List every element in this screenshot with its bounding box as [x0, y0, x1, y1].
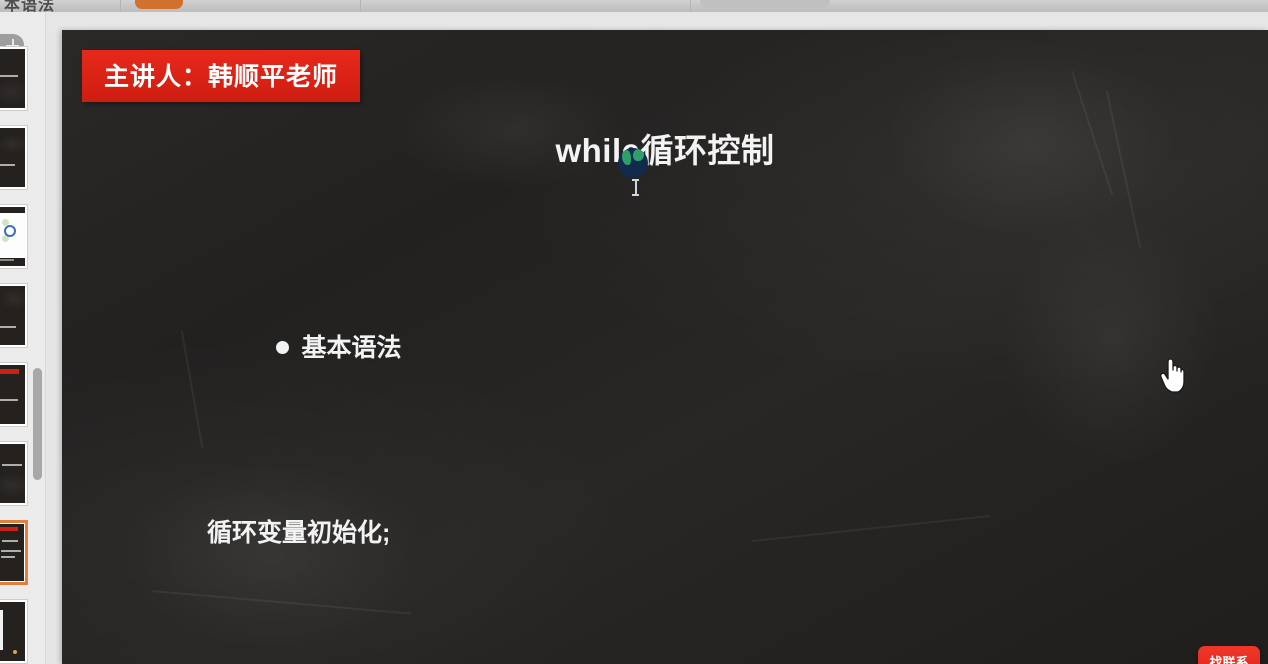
sidebar-scrollbar-track[interactable] — [31, 12, 45, 664]
thumbnail-text-line — [0, 75, 18, 77]
globe-landmass — [622, 150, 631, 165]
thumbnail-text-line — [2, 464, 22, 466]
bullet-icon — [276, 341, 289, 354]
thumbnail-preview — [0, 207, 25, 266]
board-smudge — [0, 134, 25, 154]
body-line-2: 循环变量初始化; — [207, 515, 601, 552]
slide-title: while循环控制 — [62, 124, 1268, 172]
thumbnail-preview — [0, 524, 24, 581]
slide-body: 基本语法 循环变量初始化; while (循环条件) { 循环体(语句); 循环… — [207, 182, 601, 664]
list-item[interactable] — [0, 46, 28, 111]
thumbnail-preview — [0, 128, 25, 187]
presentation-app: 本语法 — [0, 0, 1268, 664]
list-item-selected[interactable] — [0, 520, 28, 585]
thumbnail-banner — [0, 527, 18, 531]
list-item[interactable] — [0, 599, 28, 664]
toolbar-divider — [690, 0, 691, 12]
text-cursor-icon — [632, 178, 639, 198]
toolbar-divider — [120, 0, 121, 12]
board-smudge — [0, 472, 25, 498]
thumbnail-preview — [0, 286, 25, 345]
slide-thumbnail-sidebar — [0, 12, 46, 664]
thumbnail-list — [0, 46, 34, 664]
thumbnail-preview — [0, 602, 25, 661]
thumbnail-text-line — [2, 540, 18, 542]
thumbnail-text-line — [0, 164, 15, 166]
list-item[interactable] — [0, 362, 28, 427]
toolbar-divider — [360, 0, 361, 12]
slide-surface[interactable]: 主讲人：韩顺平老师 while循环控制 基本语法 循环变量初始化; while … — [62, 30, 1268, 664]
list-item[interactable] — [0, 204, 28, 269]
thumbnail-shape — [0, 610, 3, 650]
thumbnail-preview — [0, 49, 25, 108]
contact-float-button[interactable]: 找联系 — [1198, 646, 1260, 664]
app-toolbar: 本语法 — [0, 0, 1268, 12]
list-item[interactable] — [0, 441, 28, 506]
board-smudge — [0, 79, 25, 105]
body-line-bullet-1: 基本语法 — [207, 293, 601, 404]
globe-icon — [618, 148, 648, 178]
thumbnail-text-line — [0, 399, 18, 401]
thumbnail-text-line — [1, 550, 21, 552]
list-item[interactable] — [0, 283, 28, 348]
list-item[interactable] — [0, 125, 28, 190]
hand-cursor-icon — [1159, 358, 1185, 394]
board-scratch — [752, 515, 991, 542]
thumbnail-preview — [0, 365, 25, 424]
board-smudge — [1002, 210, 1222, 470]
thumbnail-shape — [13, 650, 17, 654]
thumbnail-text-line — [0, 326, 16, 328]
thumbnail-text-line — [1, 556, 15, 558]
toolbar-chip-button[interactable] — [700, 0, 830, 8]
sidebar-scrollbar-thumb[interactable] — [33, 368, 42, 480]
toolbar-primary-button[interactable] — [135, 0, 183, 9]
body-line-text: 基本语法 — [301, 334, 401, 362]
slide-canvas-area: 主讲人：韩顺平老师 while循环控制 基本语法 循环变量初始化; while … — [46, 12, 1268, 664]
thumbnail-text-line — [0, 259, 14, 261]
thumbnail-shape — [4, 225, 16, 237]
thumbnail-preview — [0, 444, 25, 503]
app-title: 本语法 — [4, 0, 55, 12]
speaker-banner: 主讲人：韩顺平老师 — [82, 50, 360, 102]
globe-landmass — [633, 149, 644, 161]
thumbnail-document — [0, 213, 25, 258]
thumbnail-banner — [0, 369, 19, 374]
board-scratch — [181, 331, 203, 449]
board-smudge — [0, 288, 25, 310]
